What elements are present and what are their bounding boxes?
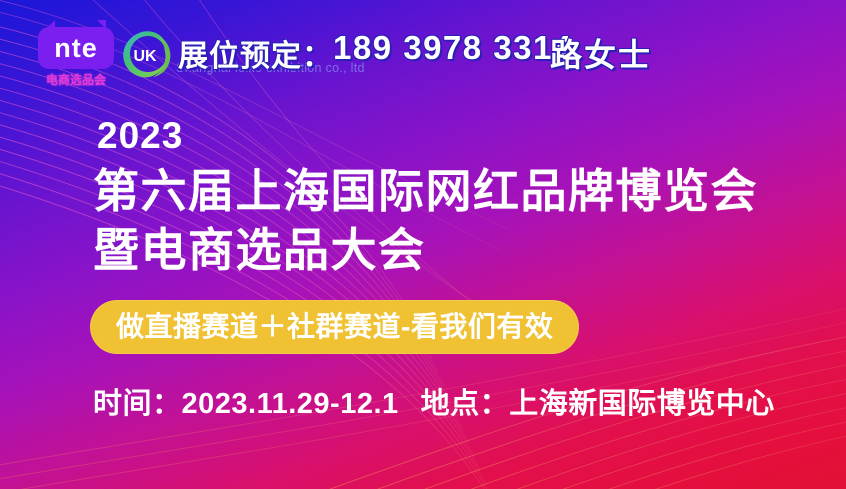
date-label: 时间： [93, 388, 182, 420]
svg-text:UK: UK [133, 48, 157, 65]
nte-logo: nte 电商选品会 [38, 27, 114, 71]
nte-logo-subtitle: 电商选品会 [38, 71, 114, 88]
venue-value: 上海新国际博览中心 [509, 388, 775, 420]
event-details-footer: 时间：2023.11.29-12.1地点：上海新国际博览中心 [93, 390, 775, 419]
booth-reservation-label: 展位预定： [178, 31, 333, 75]
event-title-line-1: 第六届上海国际网红品牌博览会 [93, 166, 758, 217]
banner-header: nte 电商选品会 UK Shanghai leike exhibition c… [0, 0, 846, 100]
event-title-line-2: 暨电商选品大会 [93, 225, 426, 276]
nte-wordmark: nte [38, 27, 114, 69]
date-value: 2023.11.29-12.1 [182, 388, 399, 420]
contact-phone-number: 189 3978 3314 [333, 29, 573, 67]
event-year: 2023 [97, 117, 183, 154]
uk-logo-icon: UK [118, 30, 174, 82]
venue-label: 地点： [421, 388, 510, 420]
promo-banner: nte 电商选品会 UK Shanghai leike exhibition c… [0, 0, 846, 489]
slogan-pill: 做直播赛道＋社群赛道-看我们有效 [90, 300, 579, 354]
contact-person-name: 路女士 [550, 30, 652, 76]
slogan-text: 做直播赛道＋社群赛道-看我们有效 [116, 313, 553, 341]
